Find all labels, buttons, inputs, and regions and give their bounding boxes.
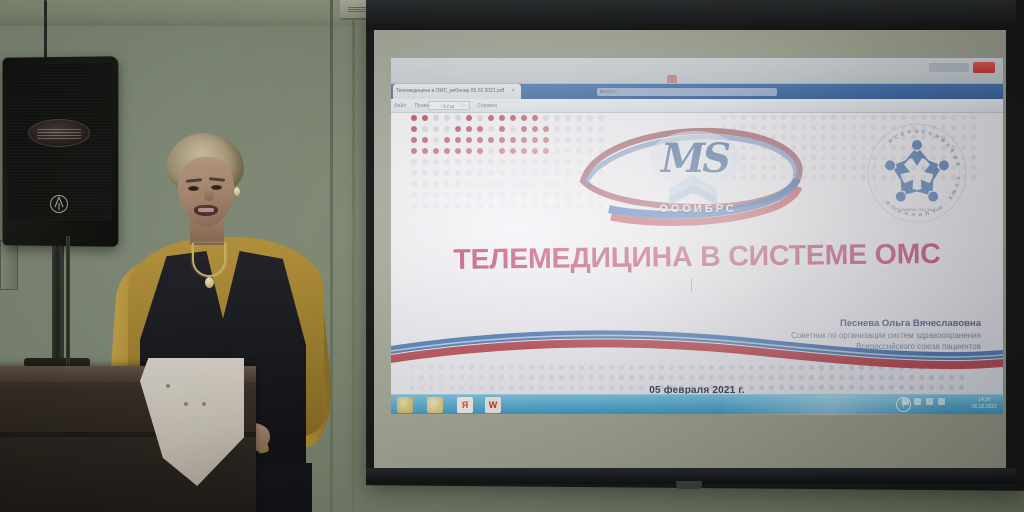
presenter-nose (204, 189, 214, 201)
presenter-eye-left (188, 186, 199, 191)
taskbar-clock[interactable]: 14:36 05.02.2021 (972, 397, 997, 411)
wall-panel (0, 240, 18, 290)
presenter-pendant (205, 277, 214, 288)
conference-room-photo: Телемедицина в ОМС_вебинар 05.02.2021.pd… (0, 0, 1024, 512)
toolbar-item-0[interactable]: Файл (394, 99, 406, 113)
presentation-slide: MS ОООИБРС (391, 113, 1003, 414)
browser-toolbar: Файл Правка Вид Окно Справка (391, 99, 1003, 113)
window-close-button[interactable] (973, 62, 995, 73)
speaker-stand (52, 246, 62, 366)
wall-seam-right (352, 0, 355, 512)
pdf-page-number-field[interactable]: 1 / 24 (428, 101, 470, 110)
tray-icon-volume[interactable] (914, 398, 921, 405)
browser-tab-close-icon[interactable]: ✕ (511, 88, 515, 94)
presenter-eye-right (211, 185, 222, 190)
browser-pin-icon[interactable] (667, 75, 677, 83)
browser-tab[interactable]: Телемедицина в ОМС_вебинар 05.02.2021.pd… (393, 84, 521, 99)
system-tray[interactable] (902, 398, 945, 405)
clock-time: 14:36 (972, 397, 997, 404)
presenter-earring (234, 187, 240, 196)
text-cursor (691, 278, 692, 292)
clock-date: 05.02.2021 (972, 404, 997, 411)
presenter-necklace (192, 243, 226, 277)
ooibrs-banner-text: ОООИБРС (621, 201, 775, 217)
window-minimize-maximize-buttons[interactable] (929, 63, 969, 72)
presenter-brow-right (209, 177, 225, 182)
tray-icon-battery[interactable] (926, 398, 933, 405)
presenter-mouth (194, 205, 218, 216)
taskbar-icon-browser[interactable] (397, 397, 413, 413)
tray-icon-language[interactable] (938, 398, 945, 405)
emblem-subtitle: Пациенты для жизни (865, 207, 969, 212)
projected-browser-window[interactable]: Телемедицина в ОМС_вебинар 05.02.2021.pd… (391, 58, 1003, 414)
patients-union-emblem: ВСЕРОССИЙСКИЙ СОЮЗ ПАЦИЕНТОВ Пациенты дл… (865, 121, 969, 225)
pa-speaker (3, 56, 119, 247)
tray-icon-network[interactable] (902, 398, 909, 405)
browser-titlebar (391, 58, 1003, 84)
mic-stand (66, 236, 70, 376)
presenter-brow-left (186, 178, 202, 183)
taskbar-icon-folder[interactable] (427, 397, 443, 413)
windows-taskbar: Я W ? 14:36 05.02.2021 (391, 394, 1003, 414)
slide-ribbon-decoration (391, 324, 1003, 372)
ooibrs-logo: MS ОООИБРС (573, 123, 813, 233)
taskbar-icon-yandex[interactable]: Я (457, 397, 473, 413)
taskbar-icon-word[interactable]: W (485, 397, 501, 413)
speaker-badge (28, 119, 90, 147)
slide-title: ТЕЛЕМЕДИЦИНА В СИСТЕМЕ ОМС (391, 237, 1003, 277)
yamaha-logo-icon (46, 193, 72, 215)
ms-monogram: MS (661, 135, 728, 182)
ceiling-cable (44, 0, 47, 60)
browser-url-bar[interactable]: file:///C:/... (597, 88, 777, 96)
toolbar-item-4[interactable]: Справка (477, 99, 497, 113)
projection-screen-handle[interactable] (676, 481, 702, 489)
projection-screen-top-bar (366, 0, 1016, 30)
